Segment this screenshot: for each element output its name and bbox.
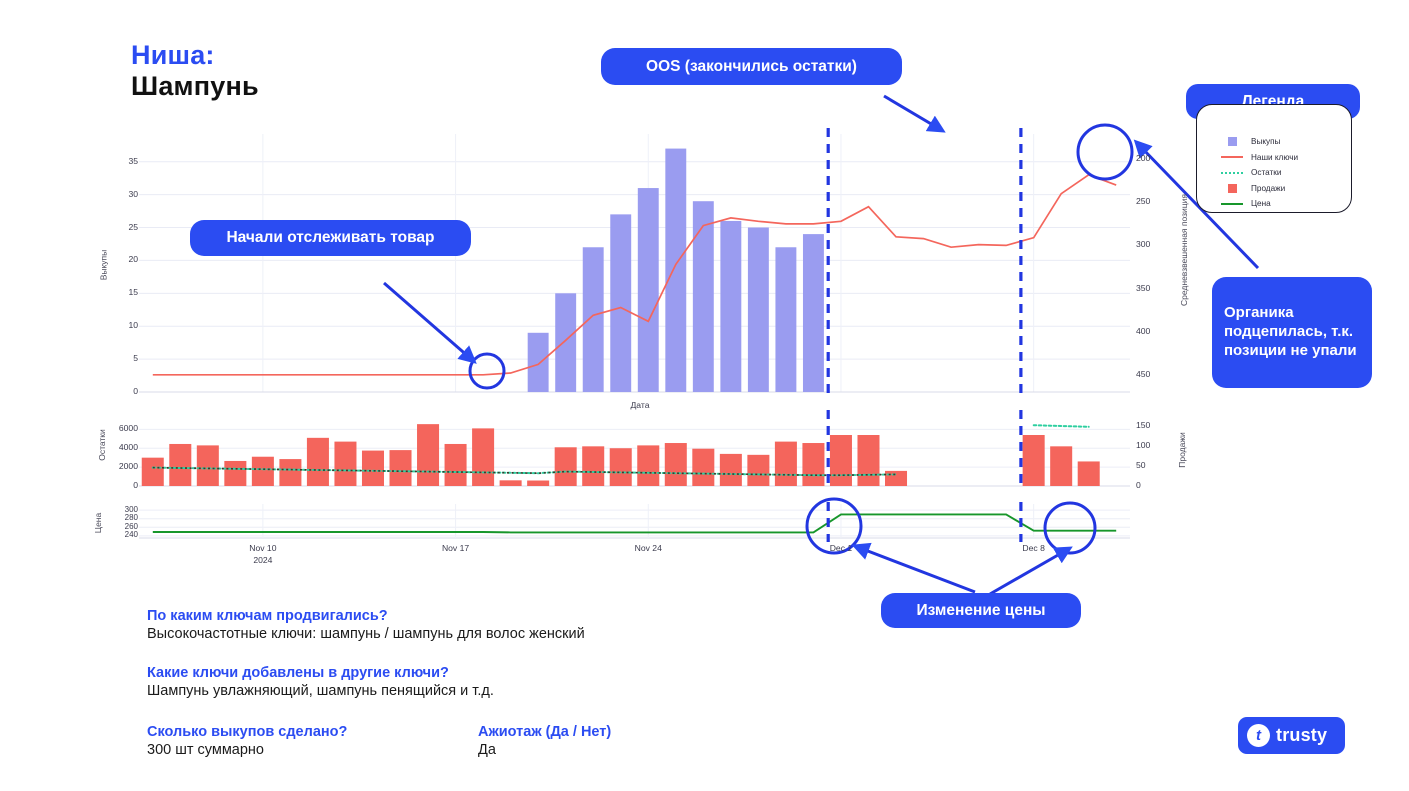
axis-title-buyouts: Выкупы <box>98 250 108 281</box>
axis-tick-label: 0 <box>1136 480 1162 490</box>
axis-tick-label: Nov 17 <box>430 543 482 553</box>
arrow-start-tracking <box>384 283 470 358</box>
bar-stock <box>417 424 439 486</box>
legend-swatch-square-icon <box>1219 184 1245 193</box>
arrow-price-down <box>990 551 1065 594</box>
axis-title-price: Цена <box>93 513 103 533</box>
axis-tick-label: 280 <box>104 513 138 522</box>
qa-block-1: По каким ключам продвигались? Высокочаст… <box>147 608 585 642</box>
axis-tick-label: 5 <box>110 353 138 363</box>
axis-tick-label: Dec 1 <box>815 543 867 553</box>
callout-start-tracking[interactable]: Начали отслеживать товар <box>190 220 471 256</box>
qa-block-3: Сколько выкупов сделано? 300 шт суммарно <box>147 724 347 758</box>
bar-stock <box>582 446 604 486</box>
callout-organic[interactable]: Органика подцепилась, т.к. позиции не уп… <box>1212 277 1372 388</box>
axis-tick-label: 200 <box>1136 153 1166 163</box>
axis-tick-label: 20 <box>110 254 138 264</box>
legend-item-label: Продажи <box>1251 184 1285 193</box>
callout-price-change[interactable]: Изменение цены <box>881 593 1081 628</box>
axis-title-position: Средневзвешенная позиция <box>1179 194 1189 306</box>
qa-question: Сколько выкупов сделано? <box>147 724 347 740</box>
trusty-mark-icon: t <box>1247 724 1270 747</box>
axis-tick-label: 450 <box>1136 369 1166 379</box>
page-title: Ниша: Шампунь <box>131 40 259 102</box>
bar-stock <box>692 449 714 486</box>
qa-answer: Шампунь увлажняющий, шампунь пенящийся и… <box>147 683 494 699</box>
axis-tick-label: 25 <box>110 222 138 232</box>
axis-tick-label: 100 <box>1136 440 1162 450</box>
legend-item-label: Наши ключи <box>1251 153 1298 162</box>
legend-item: Продажи <box>1219 182 1298 196</box>
bar-stock <box>390 450 412 486</box>
arrow-price-up <box>860 548 975 592</box>
axis-tick-label: 35 <box>110 156 138 166</box>
arrow-oos <box>884 96 938 128</box>
axis-tick-label: 6000 <box>104 423 138 433</box>
legend-box: ВыкупыНаши ключиОстаткиПродажиЦена <box>1196 104 1352 213</box>
axis-title-stock: Остатки <box>97 429 107 461</box>
legend-item-label: Остатки <box>1251 168 1281 177</box>
axis-tick-label: 240 <box>104 530 138 539</box>
line-price <box>153 514 1116 532</box>
bar-buyouts <box>748 228 769 392</box>
axis-tick-label: 250 <box>1136 196 1166 206</box>
bar-stock <box>747 455 769 486</box>
axis-tick-label: 15 <box>110 287 138 297</box>
bar-stock <box>775 442 797 486</box>
bar-stock <box>610 448 632 486</box>
line-sales-dotted-overlay <box>153 468 896 476</box>
bar-stock <box>142 458 164 486</box>
bar-stock <box>527 481 549 486</box>
axis-tick-label: 2000 <box>104 461 138 471</box>
trusty-logo: t trusty <box>1238 717 1345 754</box>
axis-tick-label: 30 <box>110 189 138 199</box>
legend-item: Выкупы <box>1219 135 1298 149</box>
annotation-circle-start-tracking <box>470 354 504 388</box>
legend-items: ВыкупыНаши ключиОстаткиПродажиЦена <box>1219 135 1298 213</box>
title-niche-label: Ниша: <box>131 40 259 70</box>
axis-tick-label: Nov 24 <box>622 543 674 553</box>
line-sales-dotted <box>1034 425 1089 427</box>
qa-question: По каким ключам продвигались? <box>147 608 585 624</box>
bar-stock <box>1078 461 1100 486</box>
legend-swatch-dotted-icon <box>1219 172 1245 174</box>
trusty-wordmark: trusty <box>1276 725 1327 746</box>
bar-buyouts <box>775 247 796 392</box>
legend-item-label: Выкупы <box>1251 137 1280 146</box>
bar-stock <box>224 461 246 486</box>
bar-buyouts <box>720 221 741 392</box>
bar-stock <box>334 442 356 486</box>
legend-item: Цена <box>1219 197 1298 211</box>
bar-stock <box>445 444 467 486</box>
bar-stock <box>885 471 907 486</box>
axis-tick-label: 300 <box>1136 239 1166 249</box>
bar-stock <box>1050 446 1072 486</box>
legend-item-label: Цена <box>1251 199 1271 208</box>
axis-tick-label: 2024 <box>237 555 289 565</box>
bar-buyouts <box>803 234 824 392</box>
line-sales-dotted <box>153 468 896 476</box>
axis-tick-label: 10 <box>110 320 138 330</box>
annotation-circle-price-up <box>807 499 861 553</box>
bar-stock <box>720 454 742 486</box>
axis-title-sales: Продажи <box>1177 432 1187 468</box>
axis-tick-label: Дата <box>620 400 660 410</box>
bar-stock <box>307 438 329 486</box>
bar-stock <box>1023 435 1045 486</box>
bar-stock <box>197 445 219 486</box>
callout-organic-text: Органика подцепилась, т.к. позиции не уп… <box>1224 304 1360 360</box>
bar-stock <box>802 443 824 486</box>
bar-buyouts <box>638 188 659 392</box>
legend-swatch-line-icon <box>1219 203 1245 205</box>
bar-stock <box>830 435 852 486</box>
title-niche-value: Шампунь <box>131 70 259 102</box>
bar-stock <box>857 435 879 486</box>
bar-buyouts <box>583 247 604 392</box>
axis-tick-label: 350 <box>1136 283 1166 293</box>
axis-tick-label: 0 <box>104 480 138 490</box>
axis-tick-label: 50 <box>1136 460 1162 470</box>
bar-stock <box>637 445 659 486</box>
axis-tick-label: 300 <box>104 505 138 514</box>
qa-block-2: Какие ключи добавлены в другие ключи? Ша… <box>147 665 494 699</box>
axis-tick-label: 400 <box>1136 326 1166 336</box>
legend-swatch-line-icon <box>1219 156 1245 158</box>
legend-item: Остатки <box>1219 166 1298 180</box>
qa-question: Ажиотаж (Да / Нет) <box>478 724 611 740</box>
qa-answer: Высокочастотные ключи: шампунь / шампунь… <box>147 626 585 642</box>
axis-tick-label: 4000 <box>104 442 138 452</box>
qa-block-4: Ажиотаж (Да / Нет) Да <box>478 724 611 758</box>
qa-answer: Да <box>478 742 611 758</box>
slide-root: Ниша: Шампунь 05101520253035200250300350… <box>0 0 1409 791</box>
bar-stock <box>500 480 522 486</box>
axis-tick-label: Dec 8 <box>1008 543 1060 553</box>
bar-stock <box>279 459 301 486</box>
bar-stock <box>665 443 687 486</box>
bar-buyouts <box>610 214 631 392</box>
axis-tick-label: Nov 10 <box>237 543 289 553</box>
annotation-circle-price-down <box>1045 503 1095 553</box>
qa-answer: 300 шт суммарно <box>147 742 347 758</box>
bar-buyouts <box>665 149 686 392</box>
axis-tick-label: 260 <box>104 522 138 531</box>
bar-stock <box>555 447 577 486</box>
callout-oos[interactable]: OOS (закончились остатки) <box>601 48 902 85</box>
axis-tick-label: 150 <box>1136 420 1162 430</box>
axis-tick-label: 0 <box>110 386 138 396</box>
legend-swatch-square-icon <box>1219 137 1245 146</box>
annotation-circle-organic <box>1078 125 1132 179</box>
line-our-keys <box>153 175 1116 375</box>
bar-stock <box>169 444 191 486</box>
bar-buyouts <box>555 293 576 392</box>
legend-item: Наши ключи <box>1219 151 1298 165</box>
bar-stock <box>362 451 384 486</box>
qa-question: Какие ключи добавлены в другие ключи? <box>147 665 494 681</box>
bar-stock <box>472 428 494 486</box>
bar-stock <box>252 457 274 486</box>
bar-buyouts <box>693 201 714 392</box>
bar-buyouts <box>528 333 549 392</box>
